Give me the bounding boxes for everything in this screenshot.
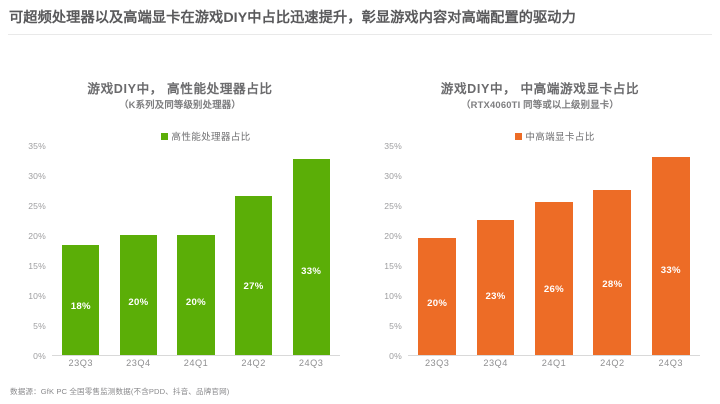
x-tick-label: 24Q3: [642, 358, 699, 368]
page-title: 可超频处理器以及高端显卡在游戏DIY中占比迅速提升，彰显游戏内容对高端配置的驱动…: [9, 9, 710, 27]
y-tick-label: 35%: [6, 141, 46, 151]
chart-subtitle-cpu: （K系列及同等级别处理器）: [0, 97, 360, 111]
chart-title-gpu: 游戏DIY中， 中高端游戏显卡占比: [360, 78, 720, 97]
bar-value-label: 20%: [427, 298, 447, 309]
x-tick-label: 23Q4: [467, 358, 524, 368]
bar[interactable]: 27%: [235, 196, 272, 356]
bar-slot: 20%: [168, 146, 224, 356]
x-tick-label: 24Q2: [225, 358, 281, 368]
x-tick-label: 24Q1: [168, 358, 224, 368]
bar-slot: 20%: [409, 146, 466, 356]
y-tick-label: 5%: [6, 321, 46, 331]
bar-slot: 33%: [283, 146, 339, 356]
source-note: 数据源：GfK PC 全国零售监测数据(不含PDD、抖音、品牌官网): [10, 386, 229, 397]
bar[interactable]: 20%: [177, 235, 214, 356]
chart-subtitle-gpu: （RTX4060TI 同等或以上级别显卡）: [360, 97, 720, 111]
bar-value-label: 27%: [244, 281, 264, 292]
bar[interactable]: 20%: [120, 235, 157, 356]
plot-area-cpu: 0%5%10%15%20%25%30%35% 18%20%20%27%33% 2…: [52, 146, 340, 356]
chart-title-cpu: 游戏DIY中， 高性能处理器占比: [0, 78, 360, 97]
y-tick-label: 30%: [6, 171, 46, 181]
slide-header: 可超频处理器以及高端显卡在游戏DIY中占比迅速提升，彰显游戏内容对高端配置的驱动…: [0, 0, 720, 36]
bar[interactable]: 20%: [418, 238, 456, 356]
x-tick-label: 24Q3: [283, 358, 339, 368]
x-axis-labels-cpu: 23Q323Q424Q124Q224Q3: [52, 358, 340, 368]
bar[interactable]: 18%: [62, 245, 99, 356]
bar-group-cpu: 18%20%20%27%33%: [52, 146, 340, 356]
slide-page: 可超频处理器以及高端显卡在游戏DIY中占比迅速提升，彰显游戏内容对高端配置的驱动…: [0, 0, 720, 404]
y-tick-label: 5%: [362, 321, 402, 331]
bar[interactable]: 33%: [293, 159, 330, 356]
x-axis-labels-gpu: 23Q323Q424Q124Q224Q3: [408, 358, 700, 368]
x-tick-label: 23Q3: [53, 358, 109, 368]
bar-value-label: 23%: [486, 291, 506, 302]
plot-area-gpu: 0%5%10%15%20%25%30%35% 20%23%26%28%33% 2…: [408, 146, 700, 356]
bar[interactable]: 26%: [535, 202, 573, 356]
bar-value-label: 33%: [301, 266, 321, 277]
y-tick-label: 10%: [6, 291, 46, 301]
x-tick-label: 23Q3: [409, 358, 466, 368]
legend-swatch-icon: [161, 133, 168, 140]
bar-slot: 27%: [225, 146, 281, 356]
bar-slot: 23%: [467, 146, 524, 356]
bar-slot: 20%: [110, 146, 166, 356]
header-divider: [8, 34, 712, 35]
bar[interactable]: 23%: [477, 220, 515, 356]
y-axis-cpu: 0%5%10%15%20%25%30%35%: [6, 146, 46, 356]
bar-value-label: 33%: [661, 265, 681, 276]
legend-label-gpu: 中高端显卡占比: [525, 129, 594, 143]
chart-panel-cpu: 游戏DIY中， 高性能处理器占比 （K系列及同等级别处理器） 高性能处理器占比 …: [0, 36, 360, 376]
y-axis-gpu: 0%5%10%15%20%25%30%35%: [362, 146, 402, 356]
chart-legend-gpu: 中高端显卡占比: [360, 129, 720, 143]
bar-slot: 28%: [584, 146, 641, 356]
y-tick-label: 15%: [6, 261, 46, 271]
y-tick-label: 35%: [362, 141, 402, 151]
chart-panel-gpu: 游戏DIY中， 中高端游戏显卡占比 （RTX4060TI 同等或以上级别显卡） …: [360, 36, 720, 376]
y-tick-label: 15%: [362, 261, 402, 271]
x-tick-label: 24Q1: [525, 358, 582, 368]
bar-value-label: 28%: [602, 279, 622, 290]
x-axis-line-cpu: [52, 355, 340, 356]
bar-slot: 33%: [642, 146, 699, 356]
bar-value-label: 20%: [186, 297, 206, 308]
y-tick-label: 20%: [6, 231, 46, 241]
y-tick-label: 10%: [362, 291, 402, 301]
y-tick-label: 20%: [362, 231, 402, 241]
x-axis-line-gpu: [408, 355, 700, 356]
bar-value-label: 26%: [544, 284, 564, 295]
legend-label-cpu: 高性能处理器占比: [171, 129, 250, 143]
y-tick-label: 25%: [6, 201, 46, 211]
bar-value-label: 18%: [71, 301, 91, 312]
y-tick-label: 0%: [362, 351, 402, 361]
x-tick-label: 24Q2: [584, 358, 641, 368]
charts-container: 游戏DIY中， 高性能处理器占比 （K系列及同等级别处理器） 高性能处理器占比 …: [0, 36, 720, 376]
legend-swatch-icon: [515, 133, 522, 140]
bar-slot: 26%: [525, 146, 582, 356]
chart-legend-cpu: 高性能处理器占比: [0, 129, 360, 143]
bar[interactable]: 33%: [652, 157, 690, 356]
bar-slot: 18%: [53, 146, 109, 356]
bar[interactable]: 28%: [593, 190, 631, 356]
bar-group-gpu: 20%23%26%28%33%: [408, 146, 700, 356]
y-tick-label: 30%: [362, 171, 402, 181]
y-tick-label: 25%: [362, 201, 402, 211]
bar-value-label: 20%: [128, 297, 148, 308]
x-tick-label: 23Q4: [110, 358, 166, 368]
y-tick-label: 0%: [6, 351, 46, 361]
